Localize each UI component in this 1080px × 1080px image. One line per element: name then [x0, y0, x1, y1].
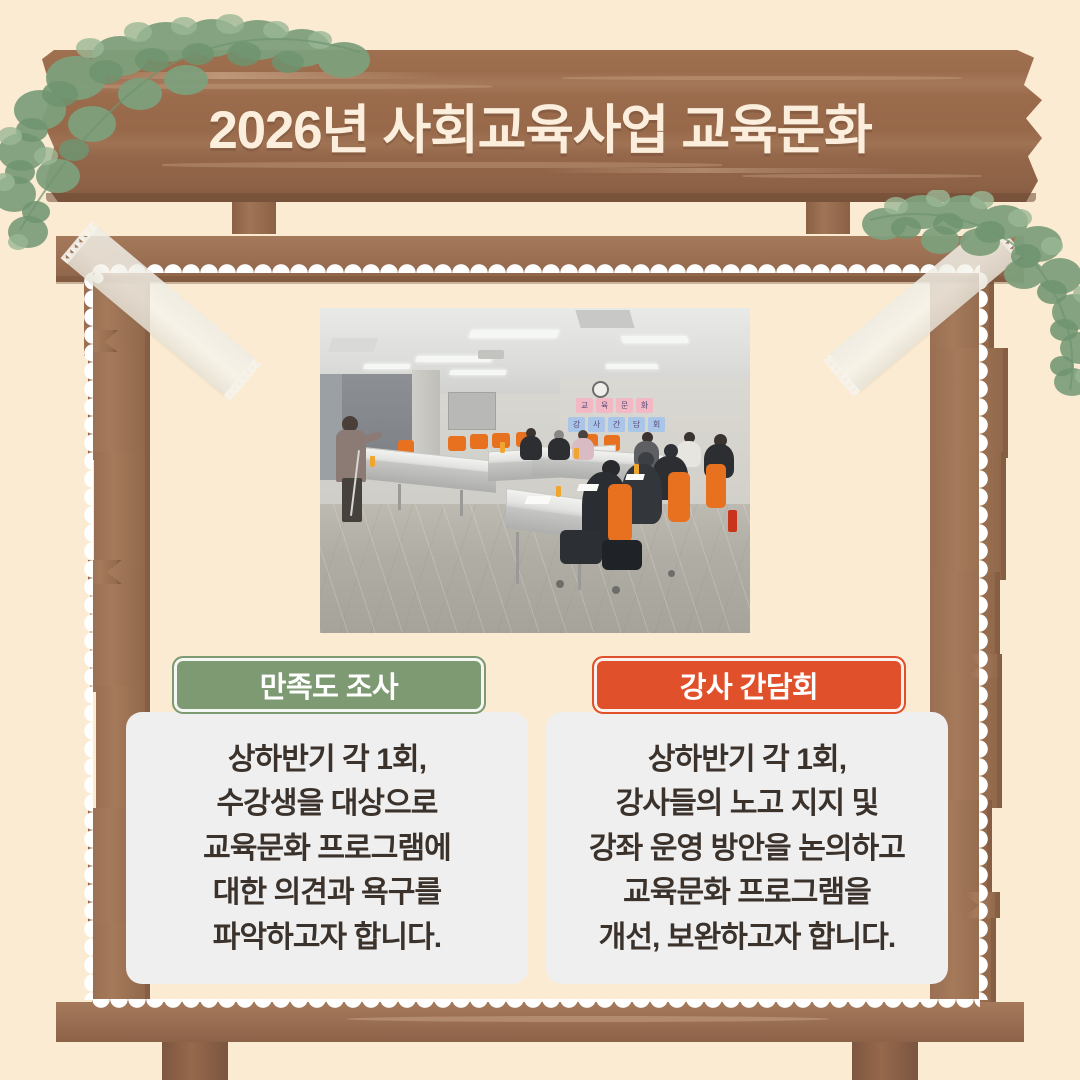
photo-chair-foreground [608, 484, 632, 542]
card-line: 상하반기 각 1회, [136, 738, 518, 782]
banner-char: 담 [628, 417, 645, 432]
photo-chair-foreground [668, 472, 690, 522]
photo-ceiling-light-5 [363, 364, 410, 369]
banner-char: 사 [588, 417, 605, 432]
card-line: 강좌 운영 방안을 논의하고 [556, 827, 938, 871]
banner-char: 간 [608, 417, 625, 432]
poster-canvas: 교 육 문 화 강 사 간 담 회 [0, 0, 1080, 1080]
photo-ceiling-grid [328, 338, 379, 352]
photo-attendee-body [520, 436, 542, 460]
photo-ceiling-vent [575, 310, 634, 328]
photo-chair [470, 434, 488, 449]
photo-chair-wheel [668, 570, 675, 577]
photo-wall-clock [592, 381, 609, 398]
card-line: 교육문화 프로그램을 [556, 871, 938, 915]
photo-ceiling-light-3 [621, 336, 689, 343]
frame-bottom-leg-right [852, 1042, 918, 1080]
badge-instructor-meeting[interactable]: 강사 간담회 [592, 656, 906, 714]
card-line: 파악하고자 합니다. [136, 916, 518, 960]
photo-attendee-body [548, 438, 570, 460]
photo-chair-wheel [612, 586, 620, 594]
photo-chair [448, 436, 466, 451]
sign-leg-left [232, 198, 276, 234]
card-line: 강사들의 노고 지지 및 [556, 782, 938, 826]
photo-table-leg [516, 532, 519, 584]
photo-fire-extinguisher [728, 510, 737, 532]
banner-char: 회 [648, 417, 665, 432]
photo-chair-foreground [706, 464, 726, 508]
poster-title: 2026년 사회교육사업 교육문화 [0, 50, 1080, 202]
badge-satisfaction-survey[interactable]: 만족도 조사 [172, 656, 486, 714]
photo-ceiling-light-1 [468, 330, 559, 338]
photo-banner: 교 육 문 화 강 사 간 담 회 [568, 398, 688, 434]
card-satisfaction-survey: 상하반기 각 1회, 수강생을 대상으로 교육문화 프로그램에 대한 의견과 욕… [126, 712, 528, 984]
card-line: 대한 의견과 욕구를 [136, 871, 518, 915]
card-line: 수강생을 대상으로 [136, 782, 518, 826]
paper-edge-right [979, 272, 990, 1000]
photo-projector [478, 350, 504, 359]
banner-char: 문 [616, 398, 633, 413]
frame-bottom-leg-left [162, 1042, 228, 1080]
photo-chair-wheel [556, 580, 564, 588]
paper-edge-top [92, 262, 980, 273]
banner-char: 화 [636, 398, 653, 413]
photo-banner-line-1: 교 육 문 화 [576, 398, 653, 413]
card-line: 상하반기 각 1회, [556, 738, 938, 782]
photo-bottle [370, 456, 375, 467]
photo-table-leg [460, 490, 463, 516]
photo-paper [524, 496, 551, 504]
photo-table-leg [398, 484, 401, 510]
photo-chair-seat [602, 540, 642, 570]
wooden-sign: 2026년 사회교육사업 교육문화 [0, 0, 1080, 215]
photo-paper [625, 474, 645, 480]
card-line: 개선, 보완하고자 합니다. [556, 916, 938, 960]
photo-chair-seat [560, 530, 602, 564]
photo-ceiling-light-6 [605, 364, 658, 369]
paper-edge-left [82, 272, 93, 1000]
sign-leg-right [806, 198, 850, 234]
photo-paper [577, 484, 599, 491]
photo-bottle [500, 442, 505, 453]
banner-char: 교 [576, 398, 593, 413]
paper-edge-bottom [92, 999, 980, 1010]
photo-wall-screen [448, 392, 496, 430]
photo-ceiling-light-4 [449, 370, 506, 375]
card-instructor-meeting: 상하반기 각 1회, 강사들의 노고 지지 및 강좌 운영 방안을 논의하고 교… [546, 712, 948, 984]
banner-char: 육 [596, 398, 613, 413]
photo-bottle [556, 486, 561, 497]
meeting-photo: 교 육 문 화 강 사 간 담 회 [320, 308, 750, 633]
photo-bottle [574, 448, 579, 459]
card-line: 교육문화 프로그램에 [136, 827, 518, 871]
